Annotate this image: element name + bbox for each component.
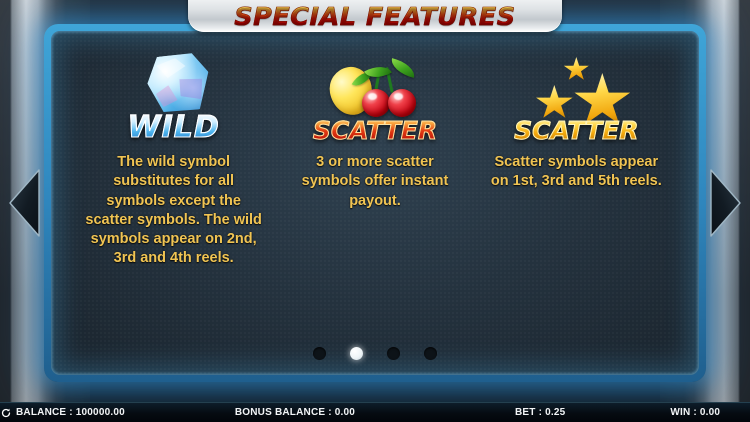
pagination-dot-3[interactable]: [387, 347, 400, 360]
pagination-dot-4[interactable]: [424, 347, 437, 360]
special-features-banner: SPECIAL FEATURES: [188, 0, 562, 32]
pagination-dots: [51, 331, 699, 375]
status-bar: BALANCE : 100000.00 BONUS BALANCE : 0.00…: [0, 402, 750, 422]
balance-readout: BALANCE : 100000.00: [16, 407, 125, 418]
feature-wild: WILD The wild symbol substitutes for all…: [73, 49, 274, 269]
pagination-dot-1[interactable]: [313, 347, 326, 360]
slot-game-screen: SPECIAL FEATURES: [0, 0, 750, 422]
pagination-dot-2[interactable]: [350, 347, 363, 360]
bonus-balance-readout: BONUS BALANCE : 0.00: [235, 407, 355, 418]
features-row: WILD The wild symbol substitutes for all…: [51, 31, 699, 331]
bet-readout: BET : 0.25: [515, 407, 565, 418]
feature-scatter-stars-description: Scatter symbols appear on 1st, 3rd and 5…: [488, 153, 665, 192]
star-icon: [563, 57, 589, 82]
scatter-fruit-symbol-label: SCATTER: [300, 118, 450, 143]
scatter-stars-symbol: SCATTER: [501, 49, 651, 145]
scatter-stars-symbol-label: SCATTER: [501, 118, 651, 143]
wild-symbol: WILD: [99, 49, 249, 145]
feature-wild-description: The wild symbol substitutes for all symb…: [85, 153, 262, 269]
win-readout: WIN : 0.00: [670, 407, 720, 418]
wild-symbol-label: WILD: [99, 113, 249, 143]
reload-button[interactable]: [0, 407, 12, 419]
cherry-icon: [388, 89, 416, 117]
feature-scatter-fruit: SCATTER 3 or more scatter symbols offer …: [274, 49, 475, 211]
features-panel: WILD The wild symbol substitutes for all…: [44, 24, 706, 382]
ice-crystal-icon: [142, 47, 215, 119]
next-page-arrow[interactable]: [704, 166, 744, 240]
prev-page-arrow[interactable]: [6, 166, 46, 240]
leaf-icon: [389, 58, 418, 78]
banner-title: SPECIAL FEATURES: [234, 4, 515, 29]
feature-scatter-fruit-description: 3 or more scatter symbols offer instant …: [286, 153, 463, 211]
scatter-fruit-symbol: SCATTER: [300, 49, 450, 145]
feature-scatter-stars: SCATTER Scatter symbols appear on 1st, 3…: [476, 49, 677, 192]
cherry-icon: [362, 89, 390, 117]
